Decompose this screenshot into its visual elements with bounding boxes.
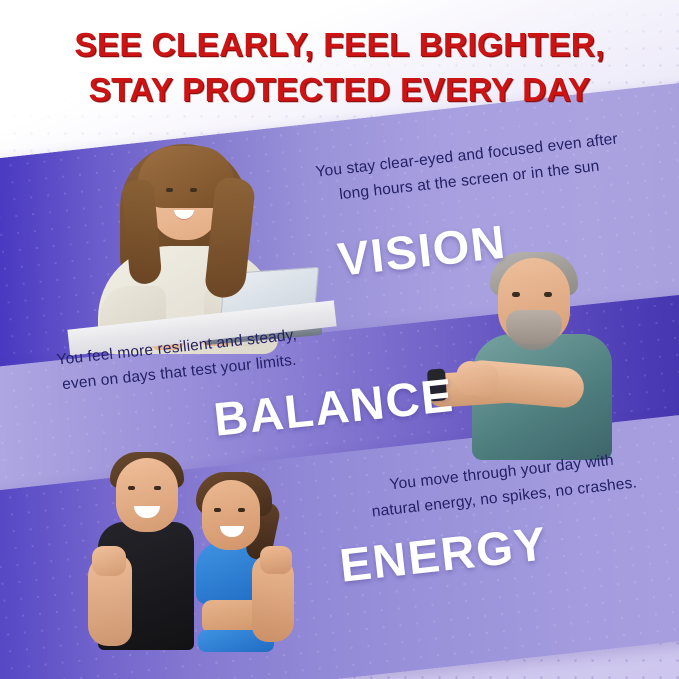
infographic-canvas: SEE CLEARLY, FEEL BRIGHTER, STAY PROTECT…: [0, 0, 679, 679]
page-title: SEE CLEARLY, FEEL BRIGHTER, STAY PROTECT…: [0, 24, 679, 113]
headline-line-1: SEE CLEARLY, FEEL BRIGHTER,: [0, 24, 679, 69]
headline-line-2: STAY PROTECTED EVERY DAY: [0, 69, 679, 114]
